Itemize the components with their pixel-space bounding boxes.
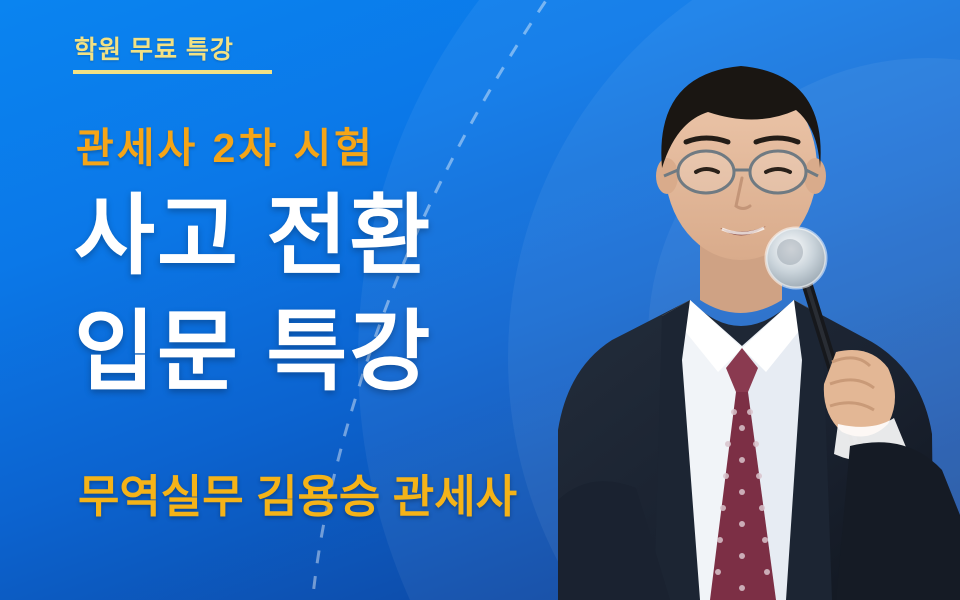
promo-banner: 학원 무료 특강 관세사 2차 시험 사고 전환 입문 특강 무역실무 김용승 … xyxy=(0,0,960,600)
background-ring-inner xyxy=(648,58,960,600)
presenter-line: 무역실무 김용승 관세사 xyxy=(78,460,517,525)
headline-line-2: 입문 특강 xyxy=(74,308,432,396)
background-ring-middle xyxy=(508,0,960,600)
tag-underline xyxy=(73,70,272,74)
subtitle: 관세사 2차 시험 xyxy=(76,114,375,174)
presenter-photo xyxy=(550,0,960,600)
tag-line: 학원 무료 특강 xyxy=(74,30,234,66)
text-column: 학원 무료 특강 관세사 2차 시험 사고 전환 입문 특강 무역실무 김용승 … xyxy=(0,0,560,600)
headline-line-1: 사고 전환 xyxy=(74,192,432,280)
